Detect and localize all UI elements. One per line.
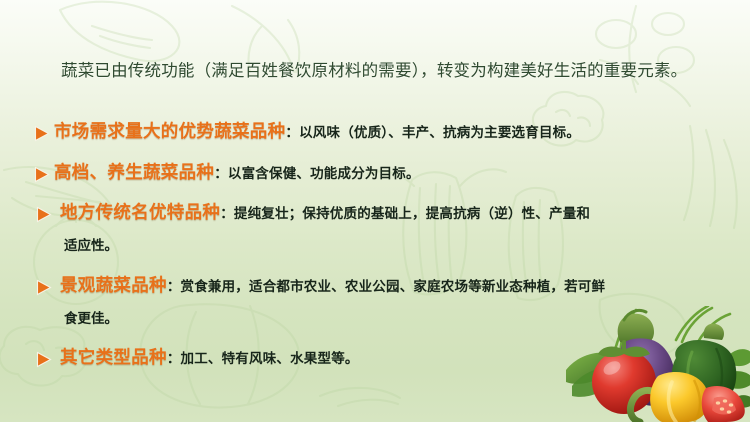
arrow-bullet-icon: [36, 206, 52, 223]
list-item-heading: 市场需求量大的优势蔬菜品种: [54, 122, 285, 142]
list-item-heading: 景观蔬菜品种: [60, 276, 167, 296]
list-item-line: 景观蔬菜品种：赏食兼用，适合都市农业、农业公园、家庭农场等新业态种植，若可鲜 食…: [54, 276, 740, 328]
arrow-bullet-icon: [34, 125, 50, 142]
list-item-body: ：以富含保健、功能成分为目标。: [214, 166, 420, 181]
list-item: 高档、养生蔬菜品种：以富含保健、功能成分为目标。: [34, 163, 740, 184]
list-item: 地方传统名优特品种：提纯复壮；保持优质的基础上，提高抗病（逆）性、产量和 适应性…: [34, 203, 740, 255]
list-item-heading: 地方传统名优特品种: [60, 203, 220, 223]
slide-content: 蔬菜已由传统功能（满足百姓餐饮原材料的需要），转变为构建美好生活的重要元素。 市…: [0, 0, 750, 422]
list-item: 其它类型品种：加工、特有风味、水果型等。: [34, 348, 740, 369]
list-item-line: 其它类型品种：加工、特有风味、水果型等。: [54, 348, 740, 369]
arrow-bullet-icon: [34, 166, 50, 183]
arrow-bullet-icon: [36, 351, 52, 368]
intro-paragraph: 蔬菜已由传统功能（满足百姓餐饮原材料的需要），转变为构建美好生活的重要元素。: [28, 53, 722, 88]
list-item-heading: 高档、养生蔬菜品种: [54, 163, 214, 183]
list-item-line: 地方传统名优特品种：提纯复壮；保持优质的基础上，提高抗病（逆）性、产量和 适应性…: [54, 203, 740, 255]
slide-canvas: 蔬菜已由传统功能（满足百姓餐饮原材料的需要），转变为构建美好生活的重要元素。 市…: [0, 0, 750, 422]
list-item-heading: 其它类型品种: [60, 348, 167, 368]
list-item-body: ：赏食兼用，适合都市农业、农业公园、家庭农场等新业态种植，若可鲜: [167, 279, 605, 294]
list-item-continuation: 食更佳。: [64, 309, 740, 328]
list-item: 景观蔬菜品种：赏食兼用，适合都市农业、农业公园、家庭农场等新业态种植，若可鲜 食…: [34, 276, 740, 328]
list-item-body: ：以风味（优质）、丰产、抗病为主要选育目标。: [285, 125, 580, 140]
list-item-continuation: 适应性。: [64, 236, 740, 255]
list-item-line: 市场需求量大的优势蔬菜品种：以风味（优质）、丰产、抗病为主要选育目标。: [54, 122, 740, 143]
list-item-line: 高档、养生蔬菜品种：以富含保健、功能成分为目标。: [54, 163, 740, 184]
list-item-body: ：提纯复壮；保持优质的基础上，提高抗病（逆）性、产量和: [220, 206, 590, 221]
arrow-bullet-icon: [36, 279, 52, 296]
list-item: 市场需求量大的优势蔬菜品种：以风味（优质）、丰产、抗病为主要选育目标。: [34, 122, 740, 143]
list-item-body: ：加工、特有风味、水果型等。: [167, 351, 359, 366]
bullet-list: 市场需求量大的优势蔬菜品种：以风味（优质）、丰产、抗病为主要选育目标。 高档、养…: [34, 122, 740, 371]
